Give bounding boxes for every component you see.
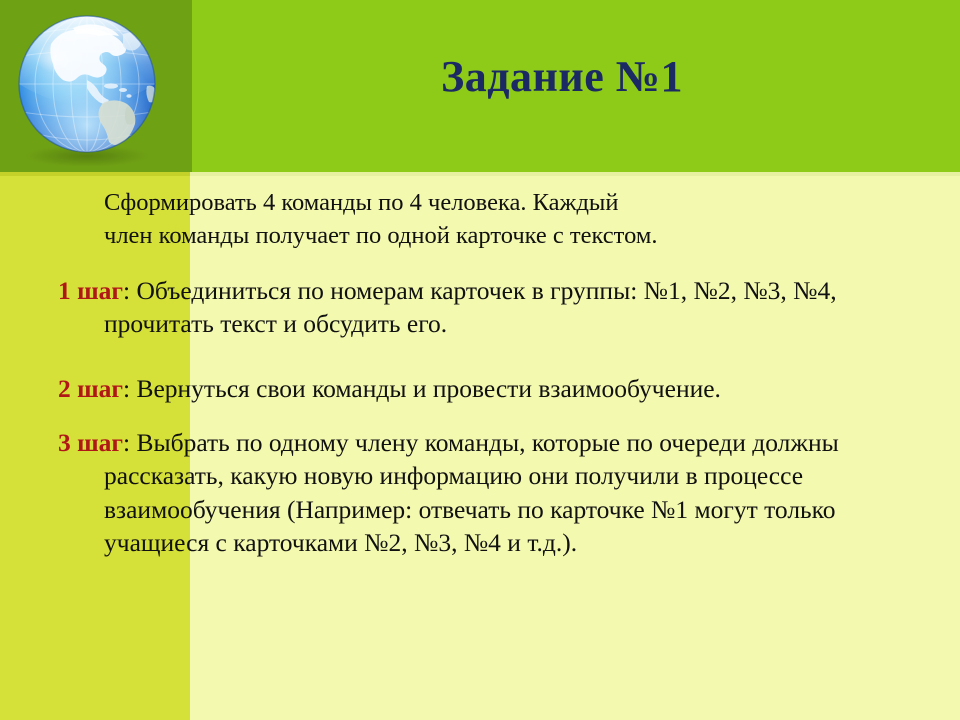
page-title: Задание №1 — [192, 54, 932, 100]
slide: Задание №1 Сформировать 4 команды по 4 ч… — [0, 0, 960, 720]
step-label-1: 1 шаг — [58, 276, 123, 305]
step-text-3: Выбрать по одному члену команды, которые… — [104, 428, 839, 557]
globe-icon — [11, 14, 165, 166]
step-separator-1: : — [123, 276, 136, 305]
step-item-3: 3 шаг: Выбрать по одному члену команды, … — [58, 426, 934, 560]
step-item-2: 2 шаг: Вернуться свои команды и провести… — [58, 372, 934, 405]
intro-paragraph: Сформировать 4 команды по 4 человека. Ка… — [104, 186, 664, 252]
step-item-1: 1 шаг: Объединиться по номерам карточек … — [58, 274, 934, 341]
step-separator-2: : — [123, 374, 136, 403]
step-label-3: 3 шаг — [58, 428, 123, 457]
step-label-2: 2 шаг — [58, 374, 123, 403]
step-text-1: Объединиться по номерам карточек в групп… — [104, 276, 837, 338]
slide-body: Сформировать 4 команды по 4 человека. Ка… — [0, 176, 960, 720]
step-separator-3: : — [123, 428, 136, 457]
step-text-2: Вернуться свои команды и провести взаимо… — [136, 374, 720, 403]
